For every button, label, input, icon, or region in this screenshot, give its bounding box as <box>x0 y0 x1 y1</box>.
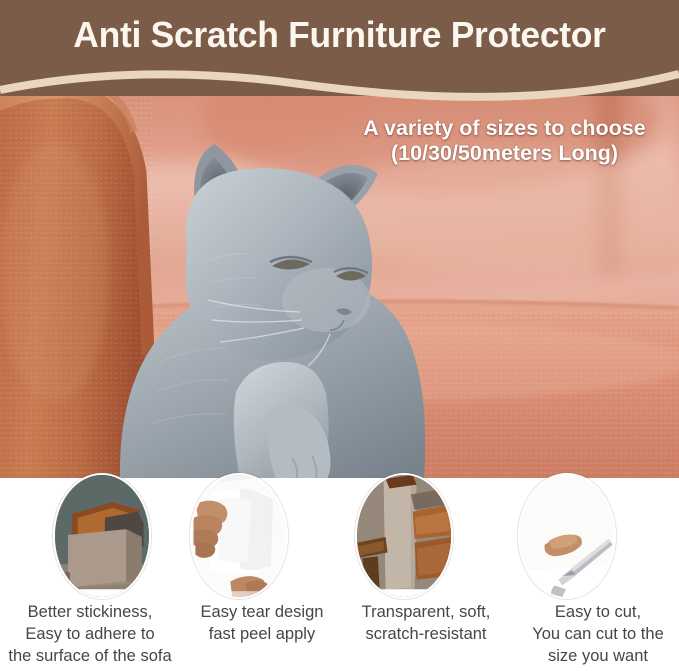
page-title: Anti Scratch Furniture Protector <box>5 14 674 56</box>
feature-thumb-3 <box>355 473 453 599</box>
hand-peeling-film-thumbnail <box>192 475 286 597</box>
protected-sofa-arm-thumbnail <box>357 475 451 597</box>
feature-caption-3: Transparent, soft, scratch-resistant <box>340 602 512 667</box>
feature-thumbnails <box>0 473 679 601</box>
feature-caption-4: Easy to cut, You can cut to the size you… <box>512 602 679 667</box>
hero-overlay-line-2: (10/30/50meters Long) <box>330 141 679 166</box>
hero-overlay-text: A variety of sizes to choose (10/30/50me… <box>330 116 679 165</box>
feature-thumb-4 <box>518 473 616 599</box>
feature-thumb-1 <box>53 473 151 599</box>
scissors-cutting-film-thumbnail <box>520 475 614 597</box>
features-section: Better stickiness, Easy to adhere to the… <box>0 478 679 671</box>
feature-captions: Better stickiness, Easy to adhere to the… <box>0 602 679 667</box>
feature-caption-1: Better stickiness, Easy to adhere to the… <box>0 602 184 667</box>
feature-caption-2: Easy tear design fast peel apply <box>184 602 340 667</box>
sofa-in-room-thumbnail <box>55 475 149 597</box>
hero-overlay-line-1: A variety of sizes to choose <box>330 116 679 141</box>
feature-thumb-2 <box>190 473 288 599</box>
product-advertisement: A variety of sizes to choose (10/30/50me… <box>0 0 679 671</box>
